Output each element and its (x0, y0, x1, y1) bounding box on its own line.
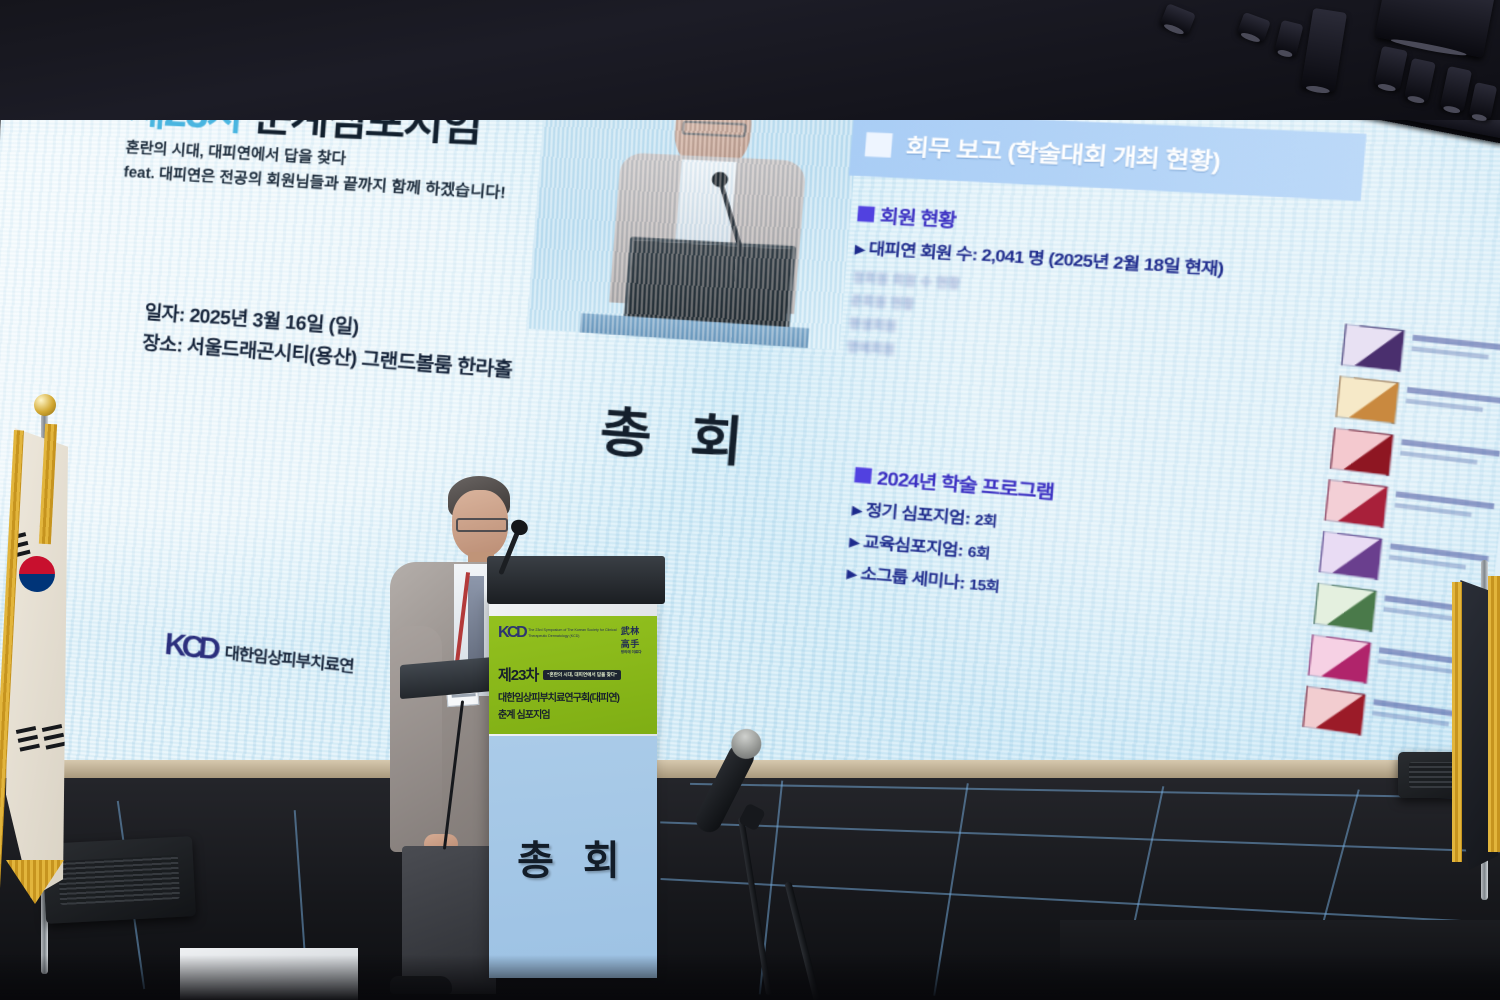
bottom-vignette (0, 955, 1500, 1000)
flag-fringe-left (1452, 582, 1462, 862)
podium-edition-row: 제23차 "혼란의 시대, 대피연에서 답을 찾다" (498, 664, 648, 685)
thumbnail-sub-placeholder (1411, 346, 1488, 359)
poster-thumbnail-image (1341, 324, 1406, 372)
feed-speaker-glasses (682, 120, 747, 137)
ceiling (0, 0, 1500, 120)
stage-monitor-speaker (42, 836, 196, 924)
conference-stage-scene: rapeutic rmatology 대한임상피부치료연구회 제23차 춘계심포… (0, 0, 1500, 1000)
academic-program-section: 2024년 학술 프로그램 ▶ 정기 심포지엄: 2회 ▶ 교육심포지엄: 6회… (846, 460, 1262, 621)
podium: KCD The 23rd Symposium of The Korean Soc… (489, 598, 657, 978)
thumbnail-meta (1411, 331, 1500, 362)
podium-banner: KCD The 23rd Symposium of The Korean Soc… (489, 616, 657, 734)
thumbnail-meta (1389, 540, 1489, 573)
screen-footer-logo: KCD 대한임상피부치료연 (163, 627, 355, 682)
kcd-logo-text: 대한임상피부치료연 (224, 639, 355, 678)
triangle-bullet-icon: ▶ (851, 502, 862, 518)
podium-lower-panel: 총 회 (489, 736, 657, 978)
podium-quote: "혼란의 시대, 대피연에서 답을 찾다" (543, 670, 621, 680)
triangle-bullet-icon: ▶ (854, 241, 865, 257)
chinese-mark-sub: 명의에 이르다 (621, 650, 648, 655)
podium-chinese-mark: 武林高手 명의에 이르다 (621, 624, 648, 655)
program-count: 15회 (969, 572, 1001, 596)
faded-detail-lines: 정회원 회원 수 현황 준회원 현황 평생회원 명예회원 (846, 269, 1259, 384)
triangle-bullet-icon: ▶ (846, 566, 857, 582)
thumbnail-meta (1395, 488, 1495, 520)
poster-thumbnail-image (1302, 686, 1366, 736)
podium-logo-group: KCD The 23rd Symposium of The Korean Soc… (498, 624, 621, 642)
poster-thumbnail-image (1330, 427, 1394, 476)
thumbnail-sub-placeholder (1406, 398, 1483, 412)
triangle-bullet-icon: ▶ (849, 534, 860, 550)
trigram (16, 726, 36, 734)
report-header-bar: 회무 보고 (학술대회 개최 현황) (849, 112, 1367, 201)
member-status-section: 회원 현황 ▶ 대피연 회원 수: 2,041 명 (2025년 2월 18일 … (846, 199, 1265, 383)
feed-laptop (623, 237, 796, 332)
program-label: 정기 심포지엄: (865, 498, 971, 530)
podium-event-line: 춘계 심포지엄 (498, 706, 648, 721)
podium-edition: 제23차 (498, 664, 538, 685)
poster-thumbnail-image (1308, 634, 1372, 684)
square-bullet-icon (857, 205, 875, 221)
feed-speaker-body (609, 152, 807, 314)
flag-finial (34, 394, 56, 416)
taeguk-symbol (15, 552, 59, 596)
thumbnail-meta (1400, 436, 1500, 468)
lectern-top (487, 556, 665, 604)
kcd-logo-mark: KCD (498, 624, 525, 642)
header-square-icon (865, 132, 893, 157)
member-status-label: 회원 현황 (879, 201, 957, 233)
academic-program-label: 2024년 학술 프로그램 (876, 462, 1055, 504)
program-label: 소그룹 세미나: (860, 561, 966, 594)
podium-logo-english: The 23rd Symposium of The Korean Society… (528, 627, 621, 642)
trigram (42, 724, 62, 732)
poster-thumbnail-image (1324, 479, 1388, 528)
poster-thumbnail-image (1313, 583, 1377, 633)
thumbnail-meta (1406, 383, 1500, 414)
flag-fringe-right (1488, 576, 1500, 852)
slide-big-word: 총 회 (597, 389, 758, 479)
podium-lower-word: 총 회 (517, 828, 629, 886)
program-count: 2회 (974, 508, 998, 531)
poster-thumbnail-image (1319, 531, 1383, 580)
podium-banner-top: KCD The 23rd Symposium of The Korean Soc… (498, 624, 648, 655)
feed-speaker-shirt (674, 159, 737, 259)
poster-thumbnail-image (1335, 376, 1399, 425)
program-count: 6회 (967, 540, 991, 563)
report-header-text: 회무 보고 (학술대회 개최 현황) (905, 130, 1222, 178)
podium-org-line: 대한임상피부치료연구회(대피연) (498, 689, 648, 704)
feed-microphone-icon (718, 181, 749, 272)
kcd-logo-mark: KCD (163, 627, 217, 667)
glasses-icon (456, 518, 508, 532)
square-bullet-icon (854, 466, 872, 483)
feed-podium (578, 313, 809, 350)
program-label: 교육심포지엄: (862, 530, 964, 562)
chinese-mark-text: 武林高手 (621, 626, 640, 649)
speaker-arm (390, 626, 442, 852)
poster-info-block: 일자: 2025년 3월 16일 (일) 장소: 서울드래곤시티(용산) 그랜드… (141, 298, 547, 390)
